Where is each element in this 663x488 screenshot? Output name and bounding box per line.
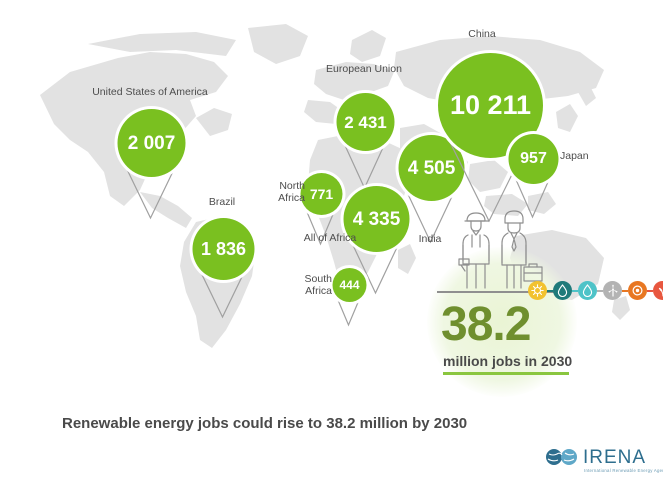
water-icon	[578, 281, 597, 300]
pin-label-united-states-of-america: United States of America	[92, 86, 208, 98]
pin-value: 771	[301, 173, 343, 215]
pin-label-north-africa: North Africa	[259, 180, 305, 204]
pin-label-japan: Japan	[560, 150, 589, 162]
total-jobs-subtitle: million jobs in 2030	[443, 353, 572, 369]
irena-logo: IRENA International Renewable Energy Age…	[545, 445, 657, 481]
geothermal-icon	[628, 281, 647, 300]
logo-wordmark: IRENA	[583, 447, 646, 469]
caption-text: Renewable energy jobs could rise to 38.2…	[62, 415, 467, 432]
map-pin-european-union[interactable]: 2 431	[334, 90, 395, 151]
wind-icon	[603, 281, 622, 300]
pin-label-china: China	[468, 28, 495, 40]
accent-rule	[443, 372, 569, 375]
globe-icon	[545, 448, 579, 471]
pin-value: 1 836	[193, 218, 255, 280]
map-pin-united-states-of-america[interactable]: 2 007	[115, 106, 186, 177]
pin-value: 444	[333, 268, 367, 302]
hydropower-icon	[553, 281, 572, 300]
pin-label-european-union: European Union	[326, 63, 402, 75]
total-jobs-stat: 38.2 million jobs in 2030	[415, 205, 663, 380]
pin-label-all-of-africa: All of Africa	[304, 232, 357, 244]
infographic-canvas: 2 007United States of America1 836Brazil…	[0, 0, 663, 488]
pin-label-brazil: Brazil	[209, 196, 235, 208]
pin-value: 2 007	[118, 109, 186, 177]
solar-icon	[528, 281, 547, 300]
energy-icon-legend	[528, 281, 663, 300]
map-pin-japan[interactable]: 957	[506, 131, 559, 184]
total-jobs-number: 38.2	[441, 301, 530, 349]
map-pin-brazil[interactable]: 1 836	[190, 215, 255, 280]
map-pin-south-africa[interactable]: 444	[330, 265, 367, 302]
bioenergy-icon	[653, 281, 663, 300]
pin-value: 2 431	[337, 93, 395, 151]
pin-label-south-africa: South Africa	[286, 273, 332, 297]
pin-value: 957	[509, 134, 559, 184]
logo-tagline: International Renewable Energy Agency	[584, 468, 663, 473]
